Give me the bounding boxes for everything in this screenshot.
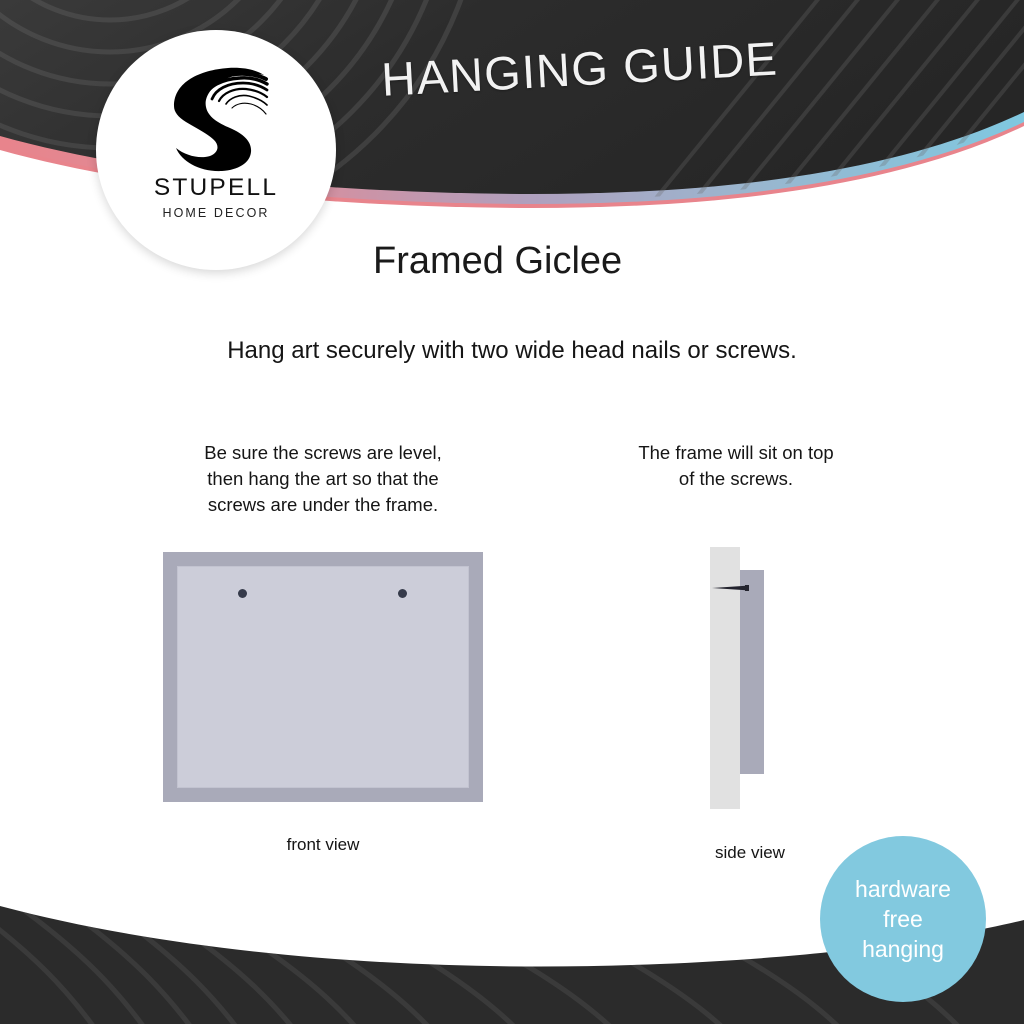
frame-side-strip: [740, 570, 764, 774]
side-view-frame-diagram: [702, 547, 798, 815]
lead-instruction: Hang art securely with two wide head nai…: [0, 337, 1024, 365]
side-view-instructions: The frame will sit on top of the screws.: [580, 440, 892, 492]
badge-line-1: hardware: [855, 874, 951, 904]
front-instruction-line-3: screws are under the frame.: [128, 492, 518, 518]
side-instruction-line-1: The frame will sit on top: [580, 440, 892, 466]
front-instruction-line-1: Be sure the screws are level,: [128, 440, 518, 466]
badge-line-3: hanging: [862, 934, 944, 964]
side-instruction-line-2: of the screws.: [580, 466, 892, 492]
brand-tagline: HOME DECOR: [162, 206, 269, 220]
brand-name: STUPELL: [154, 174, 278, 202]
screw-dot-right-icon: [398, 589, 407, 598]
product-name: Framed Giclee: [373, 240, 622, 283]
nail-icon: [712, 585, 756, 591]
stupell-swoosh-logo-icon: [156, 54, 276, 172]
front-view-instructions: Be sure the screws are level, then hang …: [128, 440, 518, 518]
front-instruction-line-2: then hang the art so that the: [128, 466, 518, 492]
front-view-caption: front view: [163, 835, 483, 855]
front-view-frame-diagram: [163, 552, 483, 802]
hanging-guide-page: STUPELL HOME DECOR HANGING GUIDE Framed …: [0, 0, 1024, 1024]
badge-line-2: free: [883, 904, 923, 934]
hardware-free-hanging-badge: hardware free hanging: [820, 836, 986, 1002]
page-title: HANGING GUIDE: [380, 31, 779, 107]
screw-dot-left-icon: [238, 589, 247, 598]
frame-mat: [177, 566, 469, 788]
side-view-caption: side view: [660, 843, 840, 863]
brand-logo-badge: STUPELL HOME DECOR: [96, 30, 336, 270]
